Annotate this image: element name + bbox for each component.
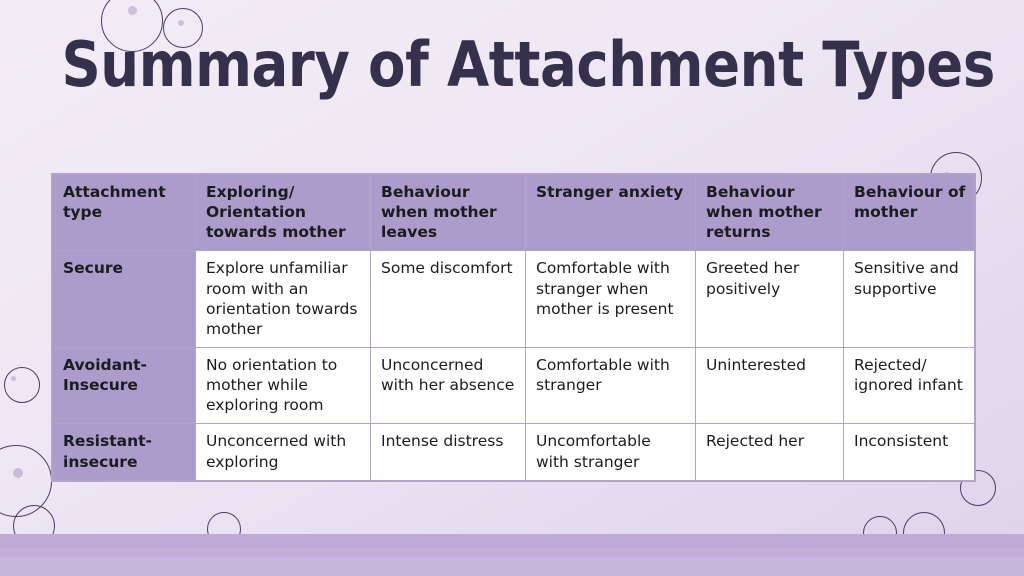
column-header-behaviour-of-mother: Behaviour of mother [844, 175, 975, 251]
bottom-band-upper [0, 534, 1024, 548]
row-label-resistant-insecure: Resistant-insecure [53, 424, 196, 480]
circle-top-left-small-dot-icon [178, 20, 184, 26]
column-header-behaviour-mother-leaves: Behaviour when mother leaves [371, 175, 526, 251]
table-row: Resistant-insecure Unconcerned with expl… [53, 424, 975, 480]
cell-resistant-mother-returns: Rejected her [696, 424, 844, 480]
cell-secure-mother-leaves: Some discomfort [371, 251, 526, 348]
cell-avoidant-mother-returns: Uninterested [696, 347, 844, 423]
table-row: Avoidant-Insecure No orientation to moth… [53, 347, 975, 423]
circle-top-left-large-dot-icon [128, 6, 137, 15]
column-header-stranger-anxiety: Stranger anxiety [526, 175, 696, 251]
table-row: Secure Explore unfamiliar room with an o… [53, 251, 975, 348]
circle-left-upper-dot-icon [11, 376, 16, 381]
column-header-behaviour-mother-returns: Behaviour when mother returns [696, 175, 844, 251]
cell-resistant-mother-leaves: Intense distress [371, 424, 526, 480]
slide-canvas: Summary of Attachment Types Attachment t… [0, 0, 1024, 576]
attachment-types-table-wrapper: Attachment type Exploring/ Orientation t… [52, 174, 974, 481]
column-header-exploring-orientation: Exploring/ Orientation towards mother [196, 175, 371, 251]
cell-secure-stranger-anxiety: Comfortable with stranger when mother is… [526, 251, 696, 348]
row-label-avoidant-insecure: Avoidant-Insecure [53, 347, 196, 423]
cell-secure-mother-returns: Greeted her positively [696, 251, 844, 348]
row-label-secure: Secure [53, 251, 196, 348]
cell-secure-exploring: Explore unfamiliar room with an orientat… [196, 251, 371, 348]
table-body: Secure Explore unfamiliar room with an o… [53, 251, 975, 480]
bottom-band-middle [0, 548, 1024, 558]
cell-resistant-exploring: Unconcerned with exploring [196, 424, 371, 480]
cell-resistant-behaviour-of-mother: Inconsistent [844, 424, 975, 480]
cell-secure-behaviour-of-mother: Sensitive and supportive [844, 251, 975, 348]
table-header-row: Attachment type Exploring/ Orientation t… [53, 175, 975, 251]
table-header: Attachment type Exploring/ Orientation t… [53, 175, 975, 251]
cell-avoidant-exploring: No orientation to mother while exploring… [196, 347, 371, 423]
cell-resistant-stranger-anxiety: Uncomfortable with stranger [526, 424, 696, 480]
cell-avoidant-mother-leaves: Unconcerned with her absence [371, 347, 526, 423]
attachment-types-table: Attachment type Exploring/ Orientation t… [52, 174, 975, 481]
page-title: Summary of Attachment Types [61, 34, 962, 96]
column-header-attachment-type: Attachment type [53, 175, 196, 251]
circle-left-lower-large-dot-icon [13, 468, 23, 478]
circle-left-upper-icon [4, 367, 40, 403]
cell-avoidant-stranger-anxiety: Comfortable with stranger [526, 347, 696, 423]
cell-avoidant-behaviour-of-mother: Rejected/ ignored infant [844, 347, 975, 423]
bottom-band-lower [0, 558, 1024, 576]
